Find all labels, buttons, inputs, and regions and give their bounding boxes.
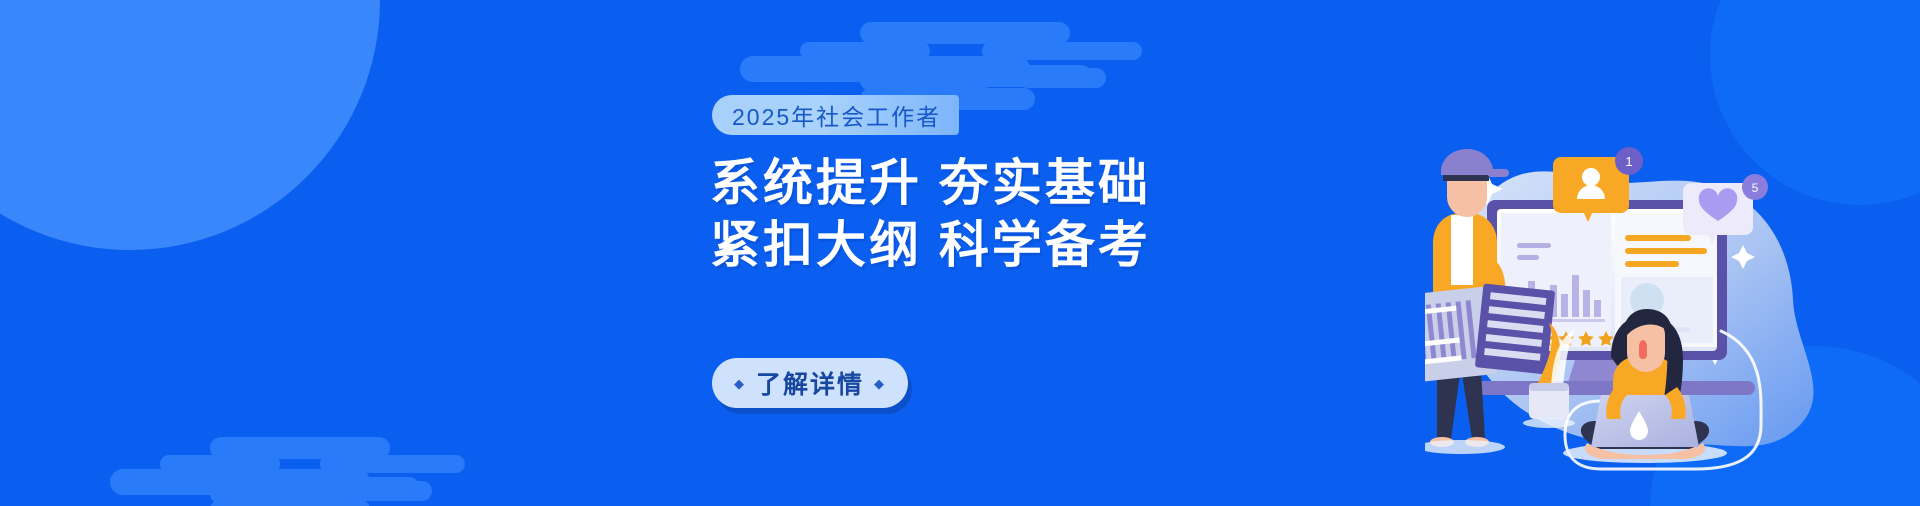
document-sheets bbox=[1425, 283, 1555, 383]
banner-content: 2025年社会工作者 系统提升 夯实基础 紧扣大纲 科学备考 ◆ 了解详情 ◆ bbox=[0, 0, 1100, 506]
headline-line-1: 系统提升 夯实基础 bbox=[710, 152, 1151, 214]
learn-more-button[interactable]: ◆ 了解详情 ◆ bbox=[712, 358, 908, 408]
headline-line-2: 紧扣大纲 科学备考 bbox=[710, 214, 1151, 276]
user-badge-count: 1 bbox=[1625, 154, 1632, 169]
diamond-left-icon: ◆ bbox=[734, 377, 746, 390]
hero-illustration: 1 5 bbox=[1425, 95, 1895, 506]
learn-more-button-label: 了解详情 bbox=[756, 365, 864, 401]
exam-year-tag-label: 2025年社会工作者 bbox=[732, 98, 941, 132]
page-title: 系统提升 夯实基础 紧扣大纲 科学备考 bbox=[710, 152, 1151, 276]
promo-banner: 2025年社会工作者 系统提升 夯实基础 紧扣大纲 科学备考 ◆ 了解详情 ◆ bbox=[0, 0, 1920, 506]
like-badge-count: 5 bbox=[1752, 181, 1759, 195]
exam-year-tag: 2025年社会工作者 bbox=[712, 95, 959, 135]
diamond-right-icon: ◆ bbox=[874, 377, 886, 390]
